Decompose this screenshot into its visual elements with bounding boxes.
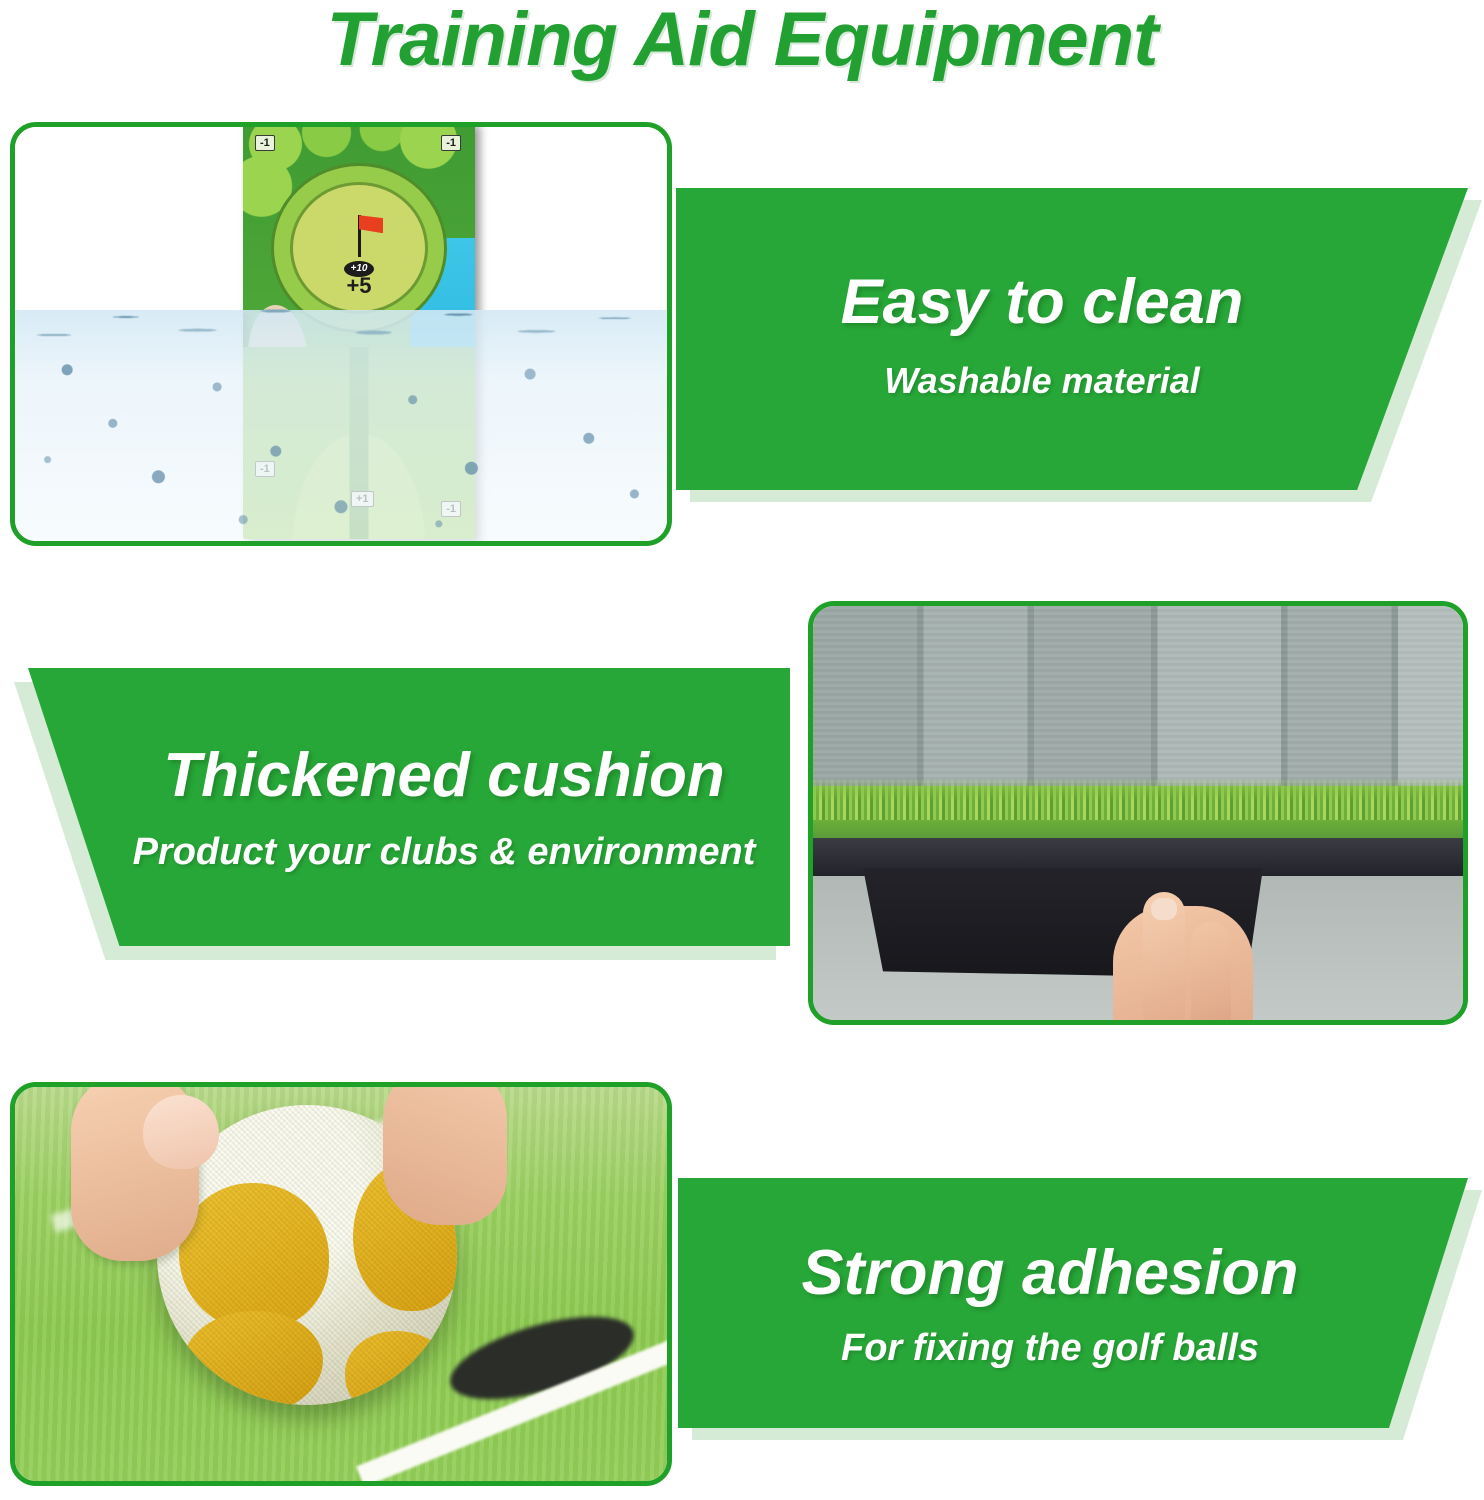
feature-photo-thickened-cushion — [808, 601, 1468, 1025]
thumbnail-graphic — [143, 1095, 219, 1169]
photo-3-content — [15, 1087, 667, 1481]
page-title: Training Aid Equipment — [0, 0, 1484, 83]
index-finger-graphic — [383, 1087, 507, 1225]
feature-photo-strong-adhesion — [10, 1082, 672, 1486]
finger-graphic-secondary — [1191, 922, 1231, 1020]
feature-photo-easy-to-clean: +10 +5 -1 -1 -1 +1 -1 — [10, 122, 672, 546]
banner-1-subtext: Washable material — [884, 360, 1199, 402]
fingernail-graphic — [1151, 898, 1177, 920]
banner-3-subtext: For fixing the golf balls — [841, 1327, 1259, 1370]
banner-3-text: Strong adhesion For fixing the golf ball… — [678, 1178, 1468, 1428]
turf-grass-tufts — [813, 778, 1463, 820]
feature-banner-easy-to-clean: Easy to clean Washable material — [676, 188, 1468, 490]
photo-2-content — [813, 606, 1463, 1020]
banner-1-headline: Easy to clean — [841, 266, 1244, 338]
water-bubbles — [15, 327, 667, 541]
infographic-page: Training Aid Equipment +10 +5 — [0, 0, 1484, 1500]
feature-banner-strong-adhesion: Strong adhesion For fixing the golf ball… — [678, 1178, 1468, 1428]
mat-rough-score-left: -1 — [255, 135, 275, 151]
feature-banner-thickened-cushion: Thickened cushion Product your clubs & e… — [28, 668, 790, 946]
banner-3-headline: Strong adhesion — [801, 1237, 1298, 1309]
mat-rough-score-right: -1 — [441, 135, 461, 151]
thumb-graphic — [71, 1087, 199, 1261]
banner-2-headline: Thickened cushion — [163, 740, 725, 811]
banner-2-subtext: Product your clubs & environment — [133, 831, 756, 874]
banner-1-text: Easy to clean Washable material — [676, 188, 1468, 490]
photo-1-content: +10 +5 -1 -1 -1 +1 -1 — [15, 127, 667, 541]
golf-flag-icon — [359, 215, 383, 233]
banner-2-text: Thickened cushion Product your clubs & e… — [28, 668, 790, 946]
